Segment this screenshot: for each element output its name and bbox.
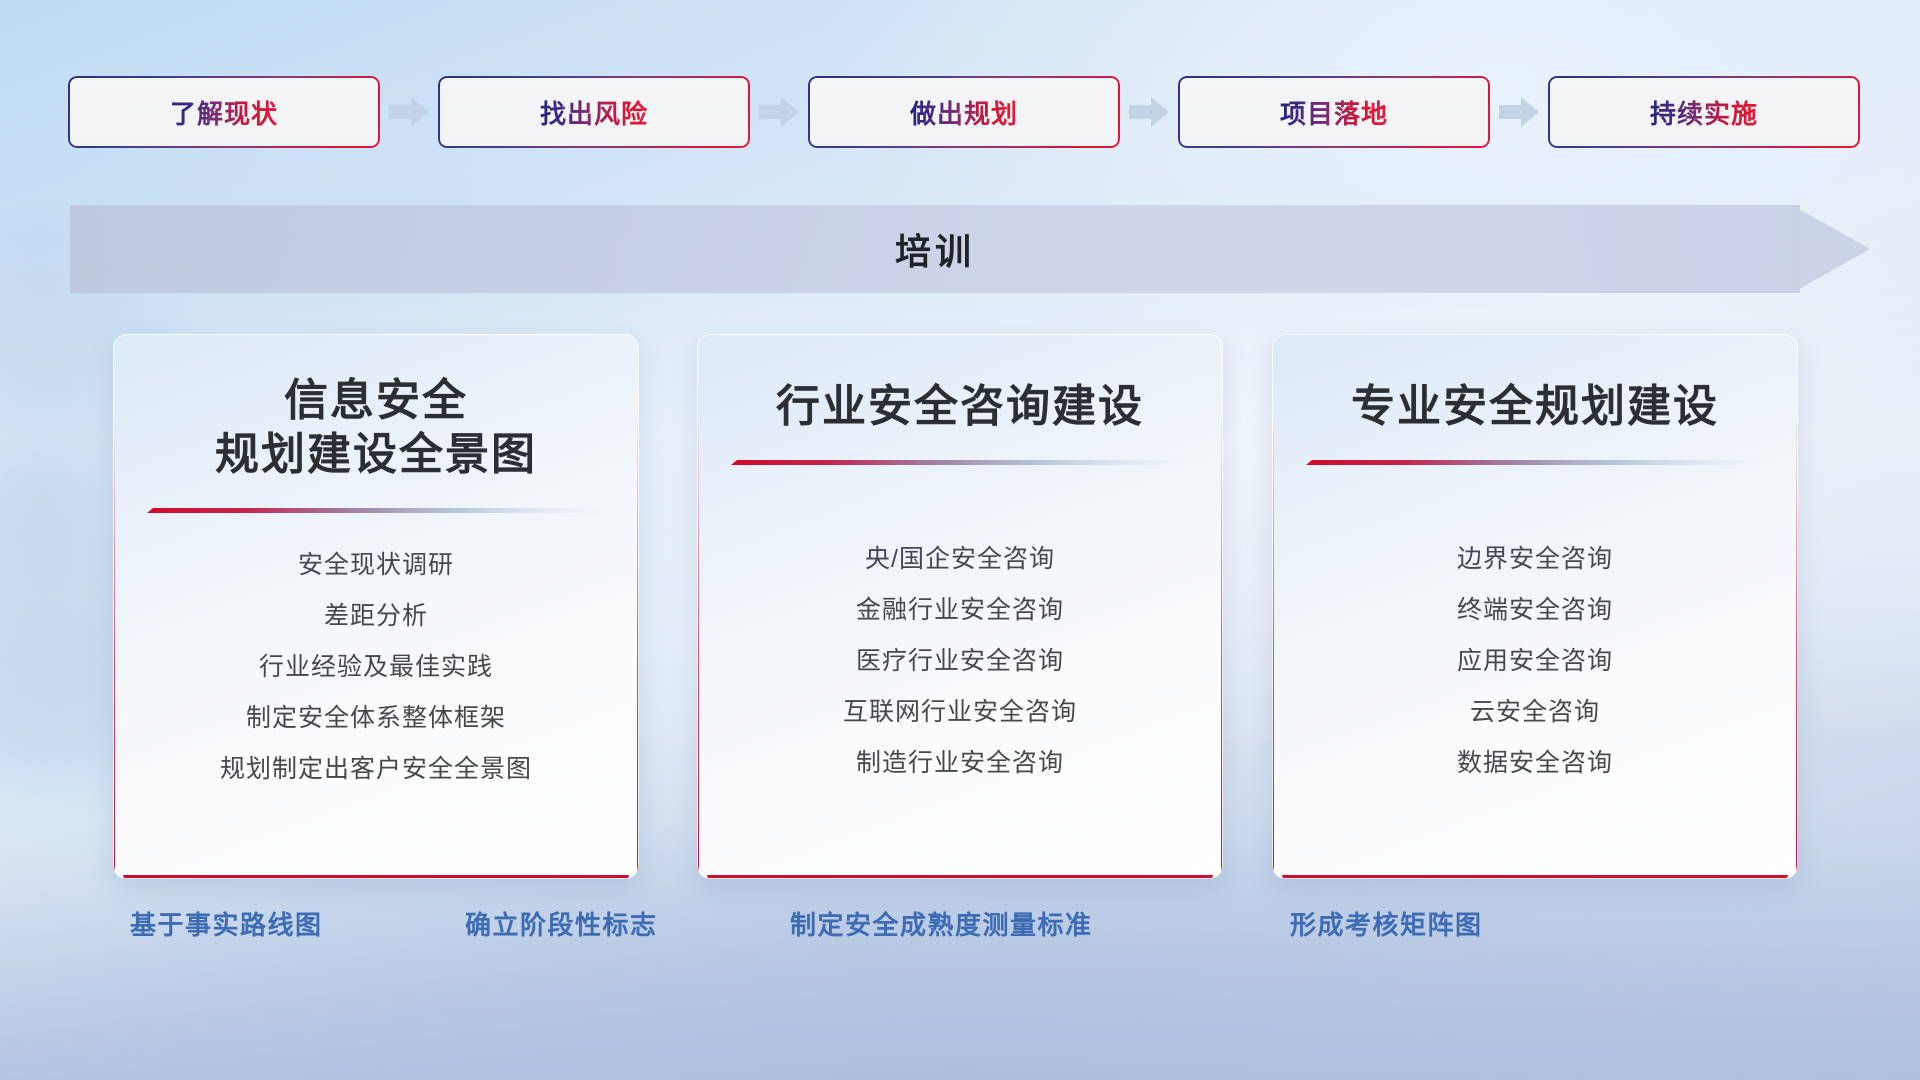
card-bottom-accent [123,875,629,879]
card-list: 边界安全咨询终端安全咨询应用安全咨询云安全咨询数据安全咨询 [1272,534,1798,789]
card-left-accent [1272,409,1274,879]
card-divider [731,454,1189,461]
card-divider [1306,454,1764,461]
list-item: 行业经验及最佳实践 [113,642,639,693]
bottom-labels: 基于事实路线图确立阶段性标志制定安全成熟度测量标准形成考核矩阵图 [0,905,1920,965]
list-item: 互联网行业安全咨询 [697,687,1223,738]
card-title: 行业安全咨询建设 [697,380,1223,434]
bottom-label-2: 确立阶段性标志 [465,905,658,942]
list-item: 制定安全体系整体框架 [113,693,639,744]
arrow-right-icon [1488,96,1550,128]
step-box-4[interactable]: 项目落地 [1180,78,1488,146]
list-item: 应用安全咨询 [1272,636,1798,687]
step-label: 做出规划 [910,94,1018,131]
card-bottom-accent [707,875,1213,879]
step-box-2[interactable]: 找出风险 [440,78,748,146]
service-cards: 信息安全规划建设全景图安全现状调研差距分析行业经验及最佳实践制定安全体系整体框架… [0,334,1920,879]
card-title: 专业安全规划建设 [1272,380,1798,434]
step-box-5[interactable]: 持续实施 [1550,78,1858,146]
list-item: 金融行业安全咨询 [697,585,1223,636]
list-item: 差距分析 [113,591,639,642]
step-box-1[interactable]: 了解现状 [70,78,378,146]
arrow-right-icon [1118,96,1180,128]
training-band: 培训 [70,205,1870,293]
step-label: 找出风险 [540,94,648,131]
list-item: 云安全咨询 [1272,687,1798,738]
card-right-accent [637,409,639,879]
list-item: 规划制定出客户安全全景图 [113,744,639,795]
bottom-label-1: 基于事实路线图 [130,905,323,942]
arrow-right-icon [748,96,810,128]
card-title: 信息安全规划建设全景图 [113,374,639,481]
service-card-2[interactable]: 行业安全咨询建设央/国企安全咨询金融行业安全咨询医疗行业安全咨询互联网行业安全咨… [697,334,1223,879]
card-left-accent [113,409,115,879]
list-item: 制造行业安全咨询 [697,738,1223,789]
service-card-3[interactable]: 专业安全规划建设边界安全咨询终端安全咨询应用安全咨询云安全咨询数据安全咨询 [1272,334,1798,879]
card-list: 安全现状调研差距分析行业经验及最佳实践制定安全体系整体框架规划制定出客户安全全景… [113,540,639,795]
card-divider [147,502,605,509]
list-item: 央/国企安全咨询 [697,534,1223,585]
list-item: 医疗行业安全咨询 [697,636,1223,687]
step-label: 持续实施 [1650,94,1758,131]
card-right-accent [1221,409,1223,879]
list-item: 安全现状调研 [113,540,639,591]
card-list: 央/国企安全咨询金融行业安全咨询医疗行业安全咨询互联网行业安全咨询制造行业安全咨… [697,534,1223,789]
list-item: 数据安全咨询 [1272,738,1798,789]
card-bottom-accent [1282,875,1788,879]
arrow-right-icon [378,96,440,128]
step-label: 项目落地 [1280,94,1388,131]
training-band-arrowhead [1792,189,1870,309]
card-right-accent [1796,409,1798,879]
process-steps: 了解现状找出风险做出规划项目落地持续实施 [70,78,1860,146]
card-title-line: 规划建设全景图 [113,428,639,482]
step-box-3[interactable]: 做出规划 [810,78,1118,146]
service-card-1[interactable]: 信息安全规划建设全景图安全现状调研差距分析行业经验及最佳实践制定安全体系整体框架… [113,334,639,879]
step-label: 了解现状 [170,94,278,131]
card-title-line: 信息安全 [113,374,639,428]
bottom-label-4: 形成考核矩阵图 [1290,905,1483,942]
bottom-label-3: 制定安全成熟度测量标准 [790,905,1093,942]
card-left-accent [697,409,699,879]
card-title-line: 专业安全规划建设 [1272,380,1798,434]
card-title-line: 行业安全咨询建设 [697,380,1223,434]
list-item: 边界安全咨询 [1272,534,1798,585]
training-band-title: 培训 [70,205,1800,293]
list-item: 终端安全咨询 [1272,585,1798,636]
